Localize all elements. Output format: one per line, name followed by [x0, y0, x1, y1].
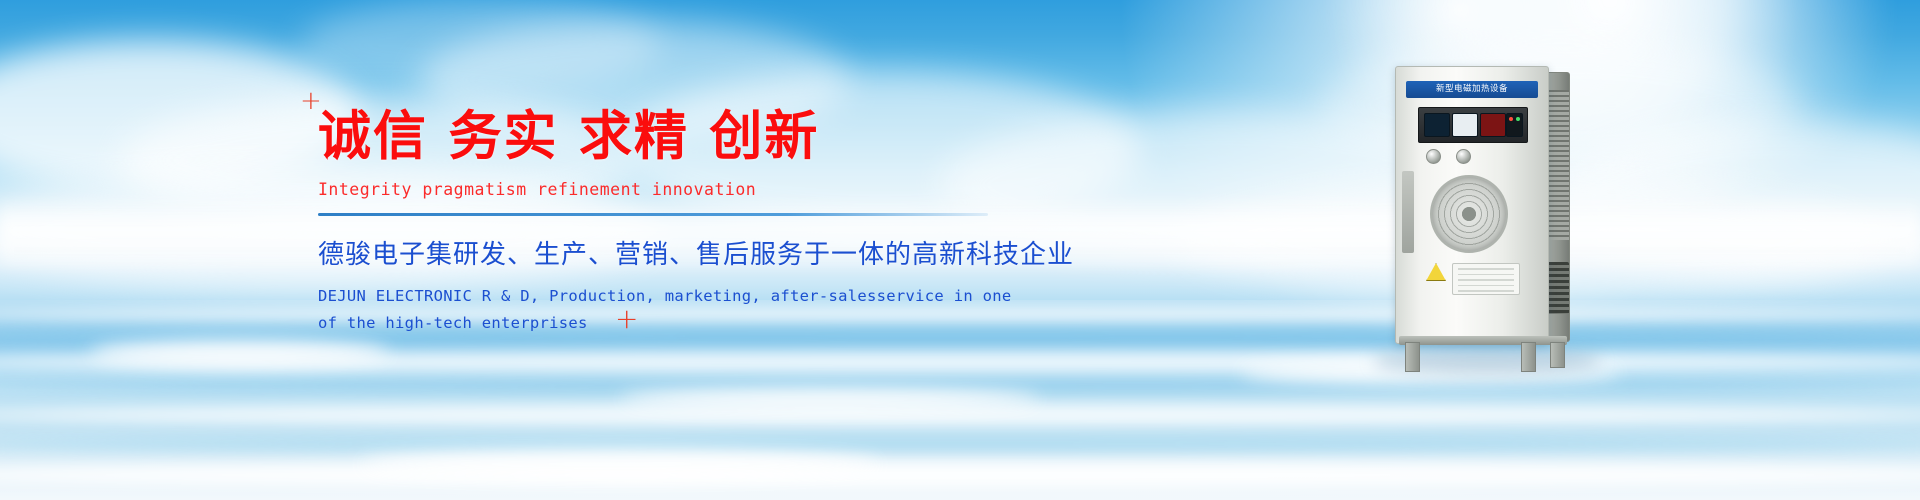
control-panel — [1418, 107, 1528, 143]
power-led-icon — [1509, 117, 1513, 121]
warning-triangle-icon — [1426, 263, 1446, 281]
product-side-vents — [1547, 90, 1569, 240]
analog-meter — [1452, 113, 1478, 137]
headline-english: Integrity pragmatism refinement innovati… — [318, 180, 1018, 199]
control-knob — [1456, 149, 1471, 164]
status-led-icon — [1516, 117, 1520, 121]
headline-chinese: 诚信 务实 求精 创新 — [318, 110, 1018, 163]
description-english: DEJUN ELECTRONIC R & D, Production, mark… — [318, 283, 1018, 337]
banner-copy: 诚信 务实 求精 创新 Integrity pragmatism refinem… — [318, 110, 1018, 337]
description-english-line-1: DEJUN ELECTRONIC R & D, Production, mark… — [318, 283, 1018, 310]
description-english-line-2: of the high-tech enterprises — [318, 310, 1018, 337]
product-foot — [1550, 342, 1565, 368]
product-side-grille — [1547, 262, 1569, 314]
product-left-strip — [1402, 171, 1414, 253]
product-foot — [1521, 342, 1536, 372]
product-cabinet: 新型电磁加热设备 — [1395, 66, 1549, 344]
description-chinese: 德骏电子集研发、生产、营销、售后服务于一体的高新科技企业 — [318, 234, 1018, 271]
product-foot — [1405, 342, 1420, 372]
spec-plate — [1452, 263, 1520, 295]
divider-line — [318, 213, 988, 216]
product-base — [1399, 336, 1567, 345]
hero-banner: + + 诚信 务实 求精 创新 Integrity pragmatism ref… — [0, 0, 1920, 500]
product-label: 新型电磁加热设备 — [1406, 81, 1538, 98]
keypad — [1480, 113, 1506, 137]
indicator-panel — [1506, 113, 1523, 137]
display-gauge — [1424, 113, 1450, 137]
cooling-fan-icon — [1430, 175, 1508, 253]
control-knob — [1426, 149, 1441, 164]
product-image: 新型电磁加热设备 — [1395, 66, 1570, 361]
